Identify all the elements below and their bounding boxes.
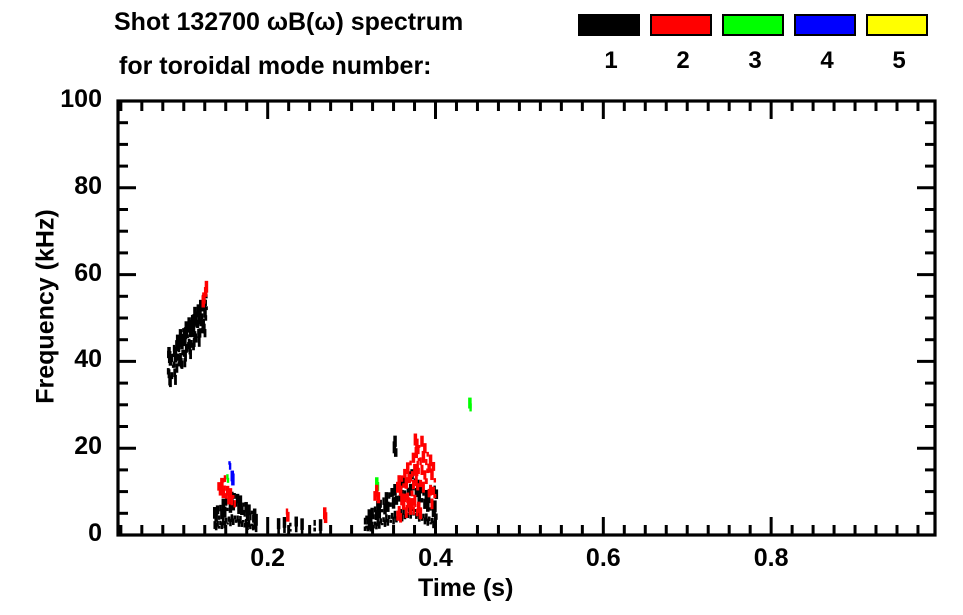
data-mark <box>224 475 226 482</box>
data-mark <box>433 500 437 512</box>
data-mark <box>414 504 416 507</box>
data-mark <box>231 473 235 485</box>
data-mark <box>404 494 406 500</box>
data-mark <box>227 478 229 483</box>
data-mark <box>184 352 187 362</box>
data-mark <box>393 436 397 447</box>
data-mark <box>421 498 423 502</box>
data-mark <box>174 375 177 385</box>
data-mark <box>301 526 304 534</box>
data-mark <box>419 457 421 465</box>
data-mark <box>170 372 173 379</box>
data-mark <box>401 475 403 481</box>
data-mark <box>389 520 392 523</box>
data-mark <box>425 490 429 502</box>
data-mark <box>399 513 402 522</box>
data-mark <box>313 528 316 532</box>
data-mark <box>387 519 390 526</box>
data-mark <box>187 334 189 338</box>
data-mark <box>402 499 406 509</box>
data-mark <box>469 403 471 411</box>
data-mark <box>224 485 226 490</box>
data-mark <box>409 461 411 466</box>
data-mark <box>411 471 413 477</box>
data-mark <box>295 526 298 533</box>
data-mark <box>233 515 236 519</box>
data-mark <box>234 500 236 507</box>
data-mark <box>225 498 227 505</box>
data-mark <box>435 513 438 519</box>
data-mark <box>469 398 471 403</box>
data-mark <box>239 495 243 507</box>
data-mark <box>425 478 428 484</box>
data-mark <box>379 518 382 523</box>
data-mark <box>181 361 184 369</box>
data-mark <box>409 477 412 482</box>
data-mark <box>313 520 315 526</box>
data-mark <box>381 509 383 512</box>
data-mark <box>223 507 227 518</box>
data-mark <box>419 480 422 487</box>
data-mark <box>422 482 425 493</box>
spectrogram-figure: Shot 132700 ωB(ω) spectrum for toroidal … <box>0 0 963 615</box>
data-mark <box>406 462 410 474</box>
data-mark <box>417 447 419 454</box>
data-mark <box>412 480 415 489</box>
data-mark <box>204 315 207 321</box>
data-mark <box>232 518 235 525</box>
data-mark <box>433 494 436 498</box>
data-mark <box>294 517 298 527</box>
data-mark <box>425 459 427 465</box>
data-mark <box>204 329 207 337</box>
data-mark <box>205 306 208 310</box>
data-mark <box>423 470 426 479</box>
data-mark <box>240 506 244 515</box>
series-mode-1 <box>167 294 438 534</box>
data-mark <box>198 337 201 347</box>
data-mark <box>390 502 392 506</box>
data-mark <box>216 505 220 514</box>
data-mark <box>398 495 400 501</box>
data-mark <box>319 527 322 535</box>
data-mark <box>422 514 425 518</box>
plot-area <box>0 0 963 615</box>
data-mark <box>428 517 431 522</box>
data-mark <box>242 520 245 523</box>
data-mark <box>372 525 375 528</box>
data-mark <box>251 511 253 515</box>
data-mark <box>178 346 180 352</box>
data-mark <box>254 514 257 526</box>
data-mark <box>218 526 221 529</box>
data-mark <box>432 462 436 471</box>
data-mark <box>381 523 384 525</box>
frame-rect <box>118 101 935 535</box>
data-mark <box>226 508 228 511</box>
data-mark <box>402 483 404 487</box>
data-mark <box>429 485 432 496</box>
data-mark <box>202 292 206 303</box>
data-mark <box>432 487 435 495</box>
data-mark <box>395 496 399 505</box>
data-mark <box>423 443 427 453</box>
data-mark <box>388 515 391 519</box>
data-mark <box>434 478 436 482</box>
data-mark <box>229 463 231 470</box>
data-mark <box>289 523 291 527</box>
data-mark <box>232 495 234 499</box>
data-mark <box>378 507 382 518</box>
data-mark <box>377 492 381 503</box>
data-mark <box>255 524 258 532</box>
axes-frame <box>118 101 935 535</box>
data-mark <box>226 522 229 524</box>
series-mode-4 <box>228 461 234 485</box>
data-mark <box>277 526 280 533</box>
data-mark <box>324 512 328 523</box>
series-mode-3 <box>226 398 472 491</box>
data-mark <box>430 499 433 510</box>
data-mark <box>420 465 423 475</box>
series-mode-2 <box>202 281 437 523</box>
data-mark <box>283 526 286 533</box>
data-mark <box>417 468 420 474</box>
data-mark <box>427 452 429 457</box>
data-mark <box>412 507 414 515</box>
data-mark <box>386 502 390 512</box>
data-mark <box>242 503 244 507</box>
data-mark <box>218 515 220 519</box>
data-mark <box>286 512 290 522</box>
data-mark <box>205 281 209 293</box>
data-mark <box>416 483 419 490</box>
data-mark <box>388 492 390 498</box>
data-mark <box>169 378 172 387</box>
data-mark <box>411 491 414 497</box>
data-mark <box>419 507 423 519</box>
data-mark <box>189 349 192 359</box>
data-mark <box>372 514 374 519</box>
data-mark <box>201 313 203 319</box>
data-mark <box>225 518 228 523</box>
data-mark <box>397 475 401 487</box>
data-mark <box>394 448 398 457</box>
data-mark <box>289 529 292 531</box>
